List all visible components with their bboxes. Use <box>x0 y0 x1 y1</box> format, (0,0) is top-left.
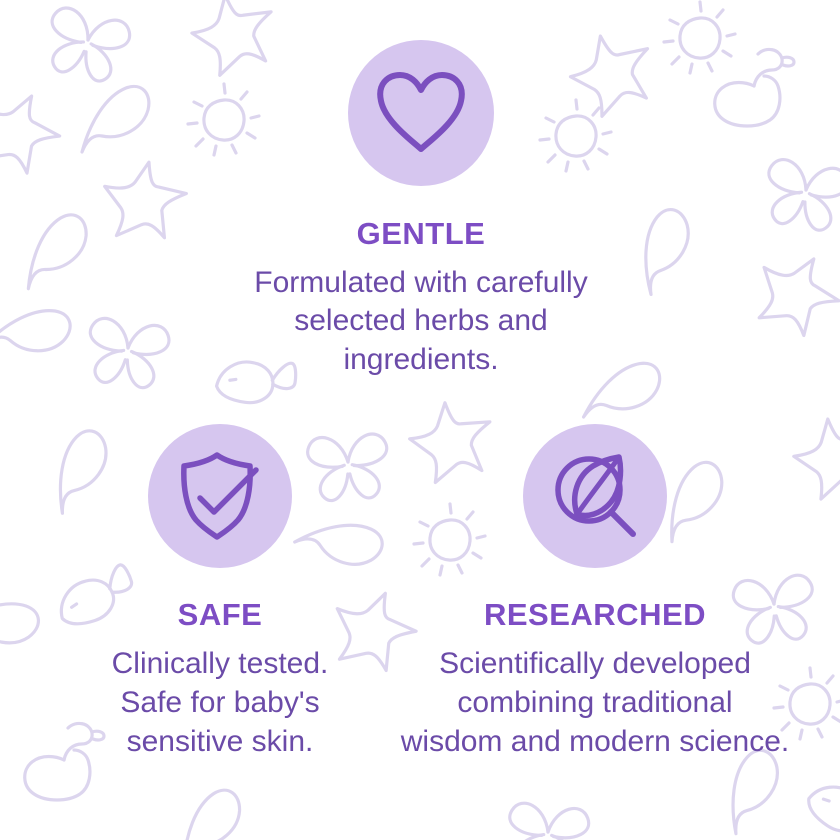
gentle-description-line-1: Formulated with carefully <box>221 264 621 302</box>
gentle-description-line-3: ingredients. <box>221 341 621 379</box>
safe-icon-circle <box>148 424 292 568</box>
feature-block-gentle: GENTLE Formulated with carefully selecte… <box>221 40 621 379</box>
researched-description-line-3: wisdom and modern science. <box>396 722 794 761</box>
leaf-magnifier-icon <box>547 448 643 544</box>
safe-title: SAFE <box>38 599 402 630</box>
gentle-icon-circle <box>348 40 494 186</box>
feature-block-safe: SAFE Clinically tested. Safe for baby's … <box>38 424 402 761</box>
researched-icon-circle <box>523 424 667 568</box>
researched-description: Scientifically developed combining tradi… <box>396 644 794 761</box>
gentle-description: Formulated with carefully selected herbs… <box>221 264 621 379</box>
safe-description: Clinically tested. Safe for baby's sensi… <box>38 644 402 761</box>
gentle-description-line-2: selected herbs and <box>221 302 621 340</box>
safe-description-line-1: Clinically tested. <box>38 644 402 683</box>
researched-title: RESEARCHED <box>396 599 794 630</box>
researched-description-line-2: combining traditional <box>396 683 794 722</box>
researched-description-line-1: Scientifically developed <box>396 644 794 683</box>
promo-graphic: GENTLE Formulated with carefully selecte… <box>0 0 840 840</box>
shield-check-icon <box>172 450 268 542</box>
heart-icon <box>375 71 467 155</box>
safe-description-line-3: sensitive skin. <box>38 722 402 761</box>
gentle-title: GENTLE <box>221 218 621 249</box>
safe-description-line-2: Safe for baby's <box>38 683 402 722</box>
feature-block-researched: RESEARCHED Scientifically developed comb… <box>396 424 794 761</box>
